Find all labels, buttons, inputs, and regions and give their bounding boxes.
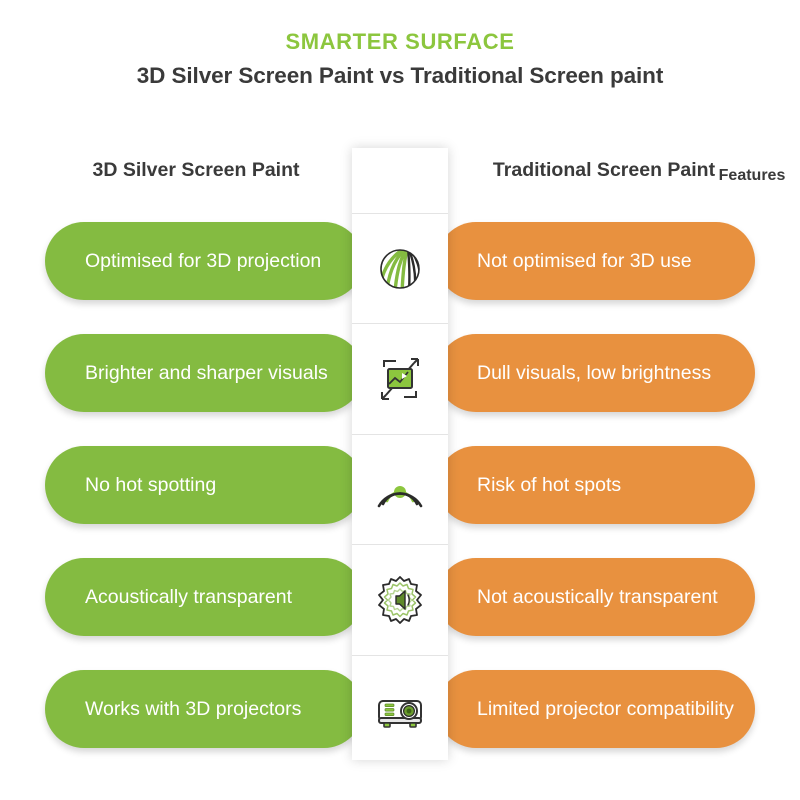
con-pill: Dull visuals, low brightness: [437, 334, 755, 412]
feature-cell: [352, 323, 448, 433]
pro-pill: Works with 3D projectors: [45, 670, 363, 748]
pro-text: Brighter and sharper visuals: [85, 361, 328, 386]
con-pill: Not acoustically transparent: [437, 558, 755, 636]
pro-text: Works with 3D projectors: [85, 697, 301, 722]
column-header-center: Features: [704, 166, 800, 186]
pro-pill: Brighter and sharper visuals: [45, 334, 363, 412]
brand-title: SMARTER SURFACE: [0, 30, 800, 54]
con-text: Limited projector compatibility: [477, 697, 734, 722]
projector-icon: [372, 682, 428, 738]
con-pill: Limited projector compatibility: [437, 670, 755, 748]
pro-pill: Optimised for 3D projection: [45, 222, 363, 300]
feature-cell: [352, 213, 448, 323]
con-pill: Risk of hot spots: [437, 446, 755, 524]
feature-cell: [352, 434, 448, 544]
con-text: Risk of hot spots: [477, 473, 621, 498]
pro-pill: Acoustically transparent: [45, 558, 363, 636]
con-text: Not acoustically transparent: [477, 585, 718, 610]
column-header-left: 3D Silver Screen Paint: [48, 158, 344, 183]
striped-sphere-icon: [372, 241, 428, 297]
con-text: Dull visuals, low brightness: [477, 361, 711, 386]
page-title: 3D Silver Screen Paint vs Traditional Sc…: [0, 63, 800, 89]
feature-cell: [352, 655, 448, 765]
pro-text: No hot spotting: [85, 473, 216, 498]
features-panel: Features: [352, 148, 448, 760]
pro-text: Acoustically transparent: [85, 585, 292, 610]
features-panel-header: Features: [352, 148, 448, 213]
feature-cell: [352, 544, 448, 654]
pro-pill: No hot spotting: [45, 446, 363, 524]
header: SMARTER SURFACE 3D Silver Screen Paint v…: [0, 0, 800, 89]
speaker-waves-icon: [372, 572, 428, 628]
pro-text: Optimised for 3D projection: [85, 249, 321, 274]
image-enhance-icon: [372, 351, 428, 407]
con-pill: Not optimised for 3D use: [437, 222, 755, 300]
con-text: Not optimised for 3D use: [477, 249, 692, 274]
hotspot-signal-icon: [372, 461, 428, 517]
comparison-infographic: SMARTER SURFACE 3D Silver Screen Paint v…: [0, 0, 800, 800]
